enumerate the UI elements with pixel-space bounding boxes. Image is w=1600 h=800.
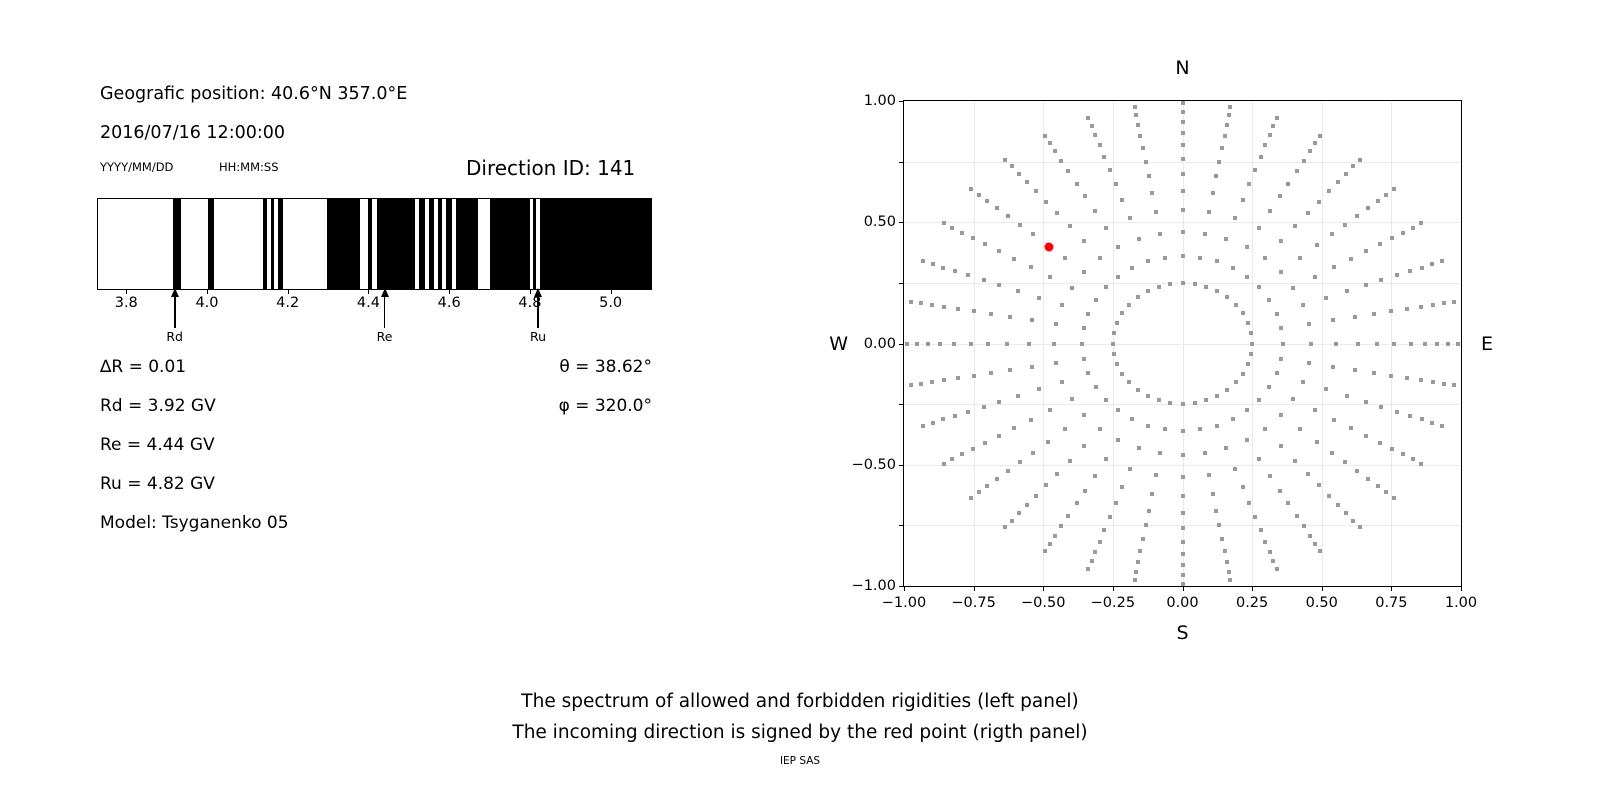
direction-point xyxy=(915,342,919,346)
direction-point xyxy=(1006,469,1010,473)
direction-point xyxy=(1029,418,1033,422)
direction-point xyxy=(1043,134,1047,138)
direction-point xyxy=(1082,413,1086,417)
y-axis-tick xyxy=(899,404,904,405)
direction-point xyxy=(1082,357,1086,361)
direction-point xyxy=(1215,289,1219,293)
direction-point xyxy=(1102,155,1106,159)
direction-point xyxy=(1302,524,1306,528)
direction-point xyxy=(1181,189,1185,193)
direction-point xyxy=(1086,567,1090,571)
date-format-hint: YYYY/MM/DD xyxy=(100,160,173,174)
direction-point xyxy=(1279,326,1283,330)
direction-point xyxy=(1430,421,1434,425)
direction-point xyxy=(1053,534,1057,538)
direction-point xyxy=(1431,303,1435,307)
direction-point xyxy=(1181,429,1185,433)
direction-point xyxy=(1207,473,1211,477)
y-axis-tick xyxy=(899,222,904,223)
direction-point xyxy=(1419,462,1423,466)
spectrum-tick xyxy=(530,290,531,294)
y-axis-label: −1.00 xyxy=(852,578,896,594)
direction-point xyxy=(1343,223,1347,227)
direction-point xyxy=(1093,474,1097,478)
direction-point xyxy=(1037,296,1041,300)
direction-point xyxy=(919,382,923,386)
direction-point xyxy=(942,462,946,466)
direction-point xyxy=(1390,447,1394,451)
forbidden-band xyxy=(368,199,372,289)
direction-point xyxy=(1052,342,1056,346)
direction-point xyxy=(1298,427,1302,431)
direction-point xyxy=(1313,141,1317,145)
direction-point xyxy=(1423,342,1427,346)
forbidden-band xyxy=(377,199,416,289)
direction-point xyxy=(1378,441,1382,445)
direction-point xyxy=(1259,528,1263,532)
x-axis-label: 1.00 xyxy=(1445,595,1477,611)
direction-point xyxy=(1442,301,1446,305)
direction-point xyxy=(1376,484,1380,488)
direction-point xyxy=(1059,524,1063,528)
direction-point xyxy=(1181,157,1185,161)
direction-point xyxy=(1389,309,1393,313)
direction-point xyxy=(1364,434,1368,438)
direction-point xyxy=(1220,537,1224,541)
direction-point xyxy=(1098,143,1102,147)
direction-point xyxy=(1336,503,1340,507)
gridline-horizontal xyxy=(904,222,1461,223)
direction-point xyxy=(1146,394,1150,398)
x-axis-tick xyxy=(1183,586,1184,591)
direction-point xyxy=(952,342,956,346)
direction-point xyxy=(1231,417,1235,421)
direction-point xyxy=(1419,305,1423,309)
direction-point xyxy=(1291,397,1295,401)
spectrum-tick xyxy=(449,290,450,294)
direction-point xyxy=(1168,282,1172,286)
direction-point xyxy=(953,269,957,273)
x-axis-tick xyxy=(974,586,975,591)
direction-point xyxy=(1111,342,1115,346)
direction-point xyxy=(1130,266,1134,270)
direction-point xyxy=(1317,483,1321,487)
forbidden-band xyxy=(278,199,282,289)
direction-point xyxy=(1046,440,1050,444)
direction-point xyxy=(1141,537,1145,541)
direction-point xyxy=(1241,311,1245,315)
param-ru: Ru = 4.82 GV xyxy=(100,474,215,494)
direction-point xyxy=(1158,451,1162,455)
marker-shaft xyxy=(384,294,385,328)
direction-point xyxy=(1018,460,1022,464)
direction-point xyxy=(1227,113,1231,117)
direction-point xyxy=(1330,232,1334,236)
direction-point xyxy=(1379,278,1383,282)
direction-point xyxy=(1313,542,1317,546)
direction-point xyxy=(1247,182,1251,186)
direction-point xyxy=(977,490,981,494)
direction-point xyxy=(1327,494,1331,498)
direction-point xyxy=(941,266,945,270)
direction-point xyxy=(1093,209,1097,213)
spectrum-tick xyxy=(207,290,208,294)
caption-line-2: The incoming direction is signed by the … xyxy=(0,717,1600,748)
marker-shaft xyxy=(174,294,175,328)
param-model: Model: Tsyganenko 05 xyxy=(100,513,289,533)
direction-point xyxy=(1037,387,1041,391)
direction-point xyxy=(1275,567,1279,571)
direction-point xyxy=(1401,231,1405,235)
direction-point xyxy=(1181,208,1185,212)
direction-point xyxy=(1094,298,1098,302)
direction-point xyxy=(1181,573,1185,577)
direction-point xyxy=(1133,578,1137,582)
direction-point xyxy=(1395,273,1399,277)
direction-point xyxy=(1268,550,1272,554)
direction-point xyxy=(1259,155,1263,159)
direction-point xyxy=(1315,440,1319,444)
direction-point xyxy=(1246,321,1250,325)
direction-point xyxy=(983,242,987,246)
direction-point xyxy=(1108,515,1112,519)
direction-point xyxy=(1115,321,1119,325)
direction-point xyxy=(966,273,970,277)
direction-point xyxy=(1228,578,1232,582)
direction-point xyxy=(1012,426,1016,430)
direction-point xyxy=(1315,243,1319,247)
direction-point xyxy=(1372,312,1376,316)
direction-point xyxy=(1246,362,1250,366)
x-axis-label: 0.00 xyxy=(1166,595,1198,611)
direction-point xyxy=(1257,285,1261,289)
param-theta: θ = 38.62° xyxy=(559,357,652,377)
direction-point xyxy=(997,249,1001,253)
direction-point xyxy=(1048,542,1052,546)
direction-point xyxy=(1267,385,1271,389)
direction-point xyxy=(1344,172,1348,176)
direction-point xyxy=(1127,380,1131,384)
spectrum-bar xyxy=(97,198,652,290)
direction-point xyxy=(1241,198,1245,202)
direction-point xyxy=(982,405,986,409)
direction-point xyxy=(1268,209,1272,213)
direction-point xyxy=(1181,281,1185,285)
direction-point xyxy=(1066,514,1070,518)
compass-east-label: E xyxy=(1481,333,1493,355)
direction-point xyxy=(1263,256,1267,260)
direction-point xyxy=(1446,342,1450,346)
direction-point xyxy=(1181,475,1185,479)
direction-point xyxy=(1025,180,1029,184)
direction-point xyxy=(1241,485,1245,489)
forbidden-band xyxy=(490,199,530,289)
direction-point xyxy=(972,309,976,313)
direction-point xyxy=(1005,342,1009,346)
direction-point xyxy=(1116,408,1120,412)
direction-point xyxy=(1409,342,1413,346)
direction-point xyxy=(1345,394,1349,398)
direction-point xyxy=(1144,160,1148,164)
direction-point xyxy=(1120,311,1124,315)
x-axis-label: 0.75 xyxy=(1375,595,1407,611)
direction-point xyxy=(1430,262,1434,266)
direction-point xyxy=(905,342,909,346)
x-axis-label: −0.75 xyxy=(951,595,995,611)
direction-point xyxy=(1008,315,1012,319)
spectrum-tick-label: 4.6 xyxy=(438,295,461,311)
direction-point xyxy=(1016,394,1020,398)
direction-point xyxy=(1378,242,1382,246)
direction-point xyxy=(1419,378,1423,382)
direction-point xyxy=(1309,342,1313,346)
direction-point xyxy=(1090,124,1094,128)
direction-point xyxy=(1268,474,1272,478)
direction-point xyxy=(1318,134,1322,138)
direction-point xyxy=(1331,365,1335,369)
direction-point xyxy=(1203,232,1207,236)
direction-point xyxy=(1442,382,1446,386)
forbidden-band xyxy=(438,199,442,289)
direction-point xyxy=(1108,168,1112,172)
marker-shaft xyxy=(537,294,538,328)
direction-point xyxy=(1355,469,1359,473)
direction-point xyxy=(1017,172,1021,176)
direction-point xyxy=(1245,408,1249,412)
direction-point xyxy=(1134,570,1138,574)
direction-point xyxy=(1181,402,1185,406)
direction-point xyxy=(1308,149,1312,153)
direction-point xyxy=(1214,509,1218,513)
direction-point xyxy=(969,187,973,191)
direction-point xyxy=(942,378,946,382)
direction-point xyxy=(1168,401,1172,405)
direction-point xyxy=(1003,525,1007,529)
direction-point xyxy=(1224,237,1228,241)
direction-point xyxy=(1030,318,1034,322)
x-axis-tick xyxy=(1461,586,1462,591)
direction-point xyxy=(956,376,960,380)
direction-point xyxy=(1150,492,1154,496)
rigidity-spectrum-chart xyxy=(97,198,652,290)
direction-point xyxy=(969,342,973,346)
direction-point xyxy=(1392,496,1396,500)
direction-point xyxy=(1234,380,1238,384)
direction-point xyxy=(1053,149,1057,153)
direction-point xyxy=(1419,221,1423,225)
direction-point xyxy=(1116,438,1120,442)
direction-point xyxy=(1375,342,1379,346)
direction-point xyxy=(972,374,976,378)
direction-point xyxy=(1286,501,1290,505)
direction-point xyxy=(1295,514,1299,518)
direction-point xyxy=(1390,236,1394,240)
direction-point xyxy=(1313,275,1317,279)
direction-point xyxy=(1104,285,1108,289)
direction-point xyxy=(1104,457,1108,461)
direction-point xyxy=(1012,257,1016,261)
direction-point xyxy=(1128,467,1132,471)
direction-point xyxy=(1247,501,1251,505)
direction-point xyxy=(1070,286,1074,290)
direction-point xyxy=(1392,342,1396,346)
direction-point xyxy=(971,236,975,240)
direction-point xyxy=(1114,501,1118,505)
direction-point xyxy=(1044,200,1048,204)
direction-point xyxy=(1249,352,1253,356)
direction-point xyxy=(1245,438,1249,442)
direction-point xyxy=(1224,446,1228,450)
direction-point xyxy=(1317,200,1321,204)
direction-point xyxy=(1220,146,1224,150)
direction-point xyxy=(1154,210,1158,214)
direction-point xyxy=(1267,298,1271,302)
forbidden-band xyxy=(271,199,274,289)
direction-point xyxy=(1245,245,1249,249)
y-axis-label: 0.50 xyxy=(864,214,896,230)
direction-point xyxy=(1234,303,1238,307)
direction-point xyxy=(1104,398,1108,402)
direction-point xyxy=(1181,563,1185,567)
direction-point xyxy=(1082,326,1086,330)
direction-point xyxy=(1204,285,1208,289)
direction-point xyxy=(1030,365,1034,369)
direction-point xyxy=(1318,549,1322,553)
direction-point xyxy=(1031,232,1035,236)
direction-point xyxy=(1098,427,1102,431)
direction-point xyxy=(931,262,935,266)
direction-point xyxy=(1344,511,1348,515)
direction-point xyxy=(977,193,981,197)
direction-point xyxy=(1034,189,1038,193)
direction-point xyxy=(989,371,993,375)
direction-point xyxy=(1440,424,1444,428)
direction-point xyxy=(1063,256,1067,260)
direction-point xyxy=(1060,303,1064,307)
direction-point xyxy=(1181,453,1185,457)
direction-point xyxy=(1253,515,1257,519)
direction-point xyxy=(1066,169,1070,173)
direction-point xyxy=(1291,286,1295,290)
direction-point xyxy=(1353,368,1357,372)
direction-point xyxy=(1181,511,1185,515)
direction-point xyxy=(960,452,964,456)
direction-point xyxy=(1144,523,1148,527)
direction-point xyxy=(1163,256,1167,260)
direction-point xyxy=(1307,361,1311,365)
direction-point xyxy=(938,342,942,346)
direction-point xyxy=(1116,245,1120,249)
direction-point xyxy=(1223,134,1227,138)
direction-point xyxy=(1376,199,1380,203)
x-axis-tick xyxy=(904,586,905,591)
direction-point xyxy=(985,484,989,488)
direction-point xyxy=(1364,400,1368,404)
direction-point xyxy=(1405,307,1409,311)
direction-point xyxy=(1211,191,1215,195)
direction-point xyxy=(1198,427,1202,431)
direction-point xyxy=(1029,265,1033,269)
direction-point xyxy=(1086,371,1090,375)
x-axis-tick xyxy=(1043,586,1044,591)
geographic-position-label: Geografic position: 40.6°N 357.0°E xyxy=(100,84,407,104)
direction-point xyxy=(1293,224,1297,228)
direction-point xyxy=(1281,342,1285,346)
direction-point xyxy=(1181,110,1185,114)
direction-point xyxy=(969,496,973,500)
direction-point xyxy=(1431,380,1435,384)
compass-south-label: S xyxy=(1176,622,1188,644)
direction-point xyxy=(1336,180,1340,184)
direction-point xyxy=(1306,472,1310,476)
direction-point xyxy=(1275,116,1279,120)
direction-point xyxy=(1225,123,1229,127)
direction-point xyxy=(1330,451,1334,455)
spectrum-x-axis: 3.84.04.24.44.64.85.0RdReRu xyxy=(97,290,652,350)
direction-point xyxy=(1456,342,1460,346)
direction-point xyxy=(982,278,986,282)
direction-point xyxy=(1327,189,1331,193)
forbidden-band xyxy=(429,199,433,289)
forbidden-band xyxy=(456,199,478,289)
marker-label: Re xyxy=(377,329,393,344)
x-axis-tick xyxy=(1252,586,1253,591)
direction-point xyxy=(1055,211,1059,215)
direction-point xyxy=(1181,143,1185,147)
direction-point xyxy=(1395,410,1399,414)
direction-point xyxy=(1298,256,1302,260)
direction-point xyxy=(930,303,934,307)
direction-point xyxy=(1093,133,1097,137)
direction-point xyxy=(1086,312,1090,316)
footer-credit: IEP SAS xyxy=(0,755,1600,767)
direction-point xyxy=(1068,224,1072,228)
direction-point xyxy=(997,434,1001,438)
marker-label: Ru xyxy=(530,329,546,344)
direction-point xyxy=(1137,446,1141,450)
direction-point xyxy=(1141,146,1145,150)
spectrum-tick-label: 3.8 xyxy=(115,295,138,311)
direction-point xyxy=(1215,424,1219,428)
direction-point xyxy=(1228,105,1232,109)
direction-point xyxy=(1136,295,1140,299)
direction-point xyxy=(1098,256,1102,260)
direction-point xyxy=(1048,275,1052,279)
direction-point xyxy=(1215,394,1219,398)
gridline-horizontal xyxy=(904,162,1461,163)
direction-point xyxy=(1379,405,1383,409)
direction-point xyxy=(1203,451,1207,455)
direction-point xyxy=(1271,559,1275,563)
direction-point xyxy=(1351,164,1355,168)
direction-point xyxy=(1313,408,1317,412)
direction-point xyxy=(1017,511,1021,515)
y-axis-tick xyxy=(899,101,904,102)
direction-point xyxy=(1257,457,1261,461)
direction-point xyxy=(1181,494,1185,498)
direction-point xyxy=(1349,257,1353,261)
direction-point xyxy=(909,383,913,387)
spectrum-tick xyxy=(288,290,289,294)
direction-point xyxy=(995,206,999,210)
direction-point xyxy=(1146,424,1150,428)
x-axis-label: −0.50 xyxy=(1021,595,1065,611)
direction-point xyxy=(995,477,999,481)
direction-point xyxy=(1010,519,1014,523)
direction-point xyxy=(1181,552,1185,556)
direction-point xyxy=(950,226,954,230)
forbidden-band xyxy=(208,199,214,289)
